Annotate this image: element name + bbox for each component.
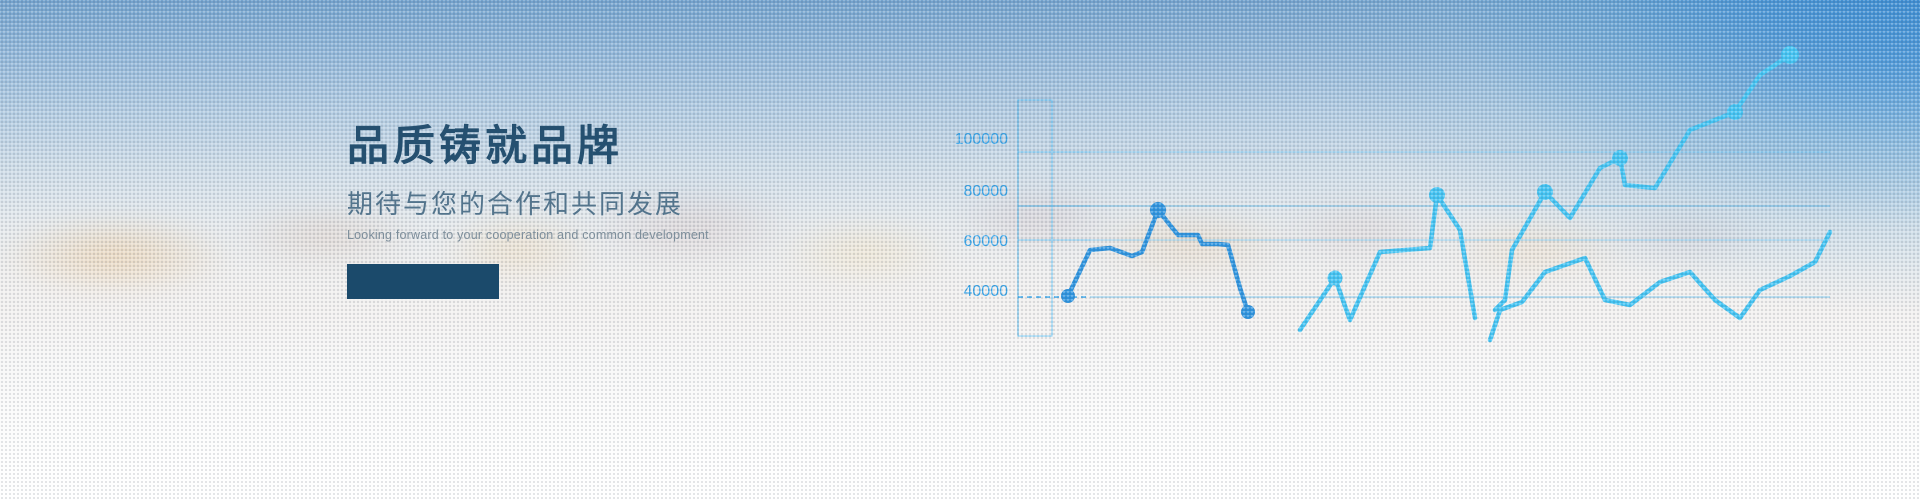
chart-gridlines <box>1090 152 1830 297</box>
chart-series-4-line <box>1490 232 1830 340</box>
chart-marker-series1-peak <box>1150 202 1166 218</box>
cta-button[interactable] <box>347 264 499 299</box>
chart-marker-series3-b <box>1612 150 1628 166</box>
chart-data-point-markers <box>1061 202 1255 319</box>
chart-svg: 100000 80000 60000 40000 <box>0 0 1920 500</box>
page-title: 品质铸就品牌 <box>347 125 867 167</box>
hero-banner: 100000 80000 60000 40000 <box>0 0 1920 500</box>
ytick-label-40000: 40000 <box>964 283 1009 300</box>
chart-axis <box>1018 100 1090 336</box>
ytick-label-80000: 80000 <box>964 183 1009 200</box>
chart-marker-series1-end <box>1241 305 1255 319</box>
chart-series-3-line <box>1495 55 1790 310</box>
chart-marker-series3-a <box>1537 184 1553 200</box>
ytick-label-60000: 60000 <box>964 233 1009 250</box>
hero-copy-block: 品质铸就品牌 期待与您的合作和共同发展 Looking forward to y… <box>347 125 867 299</box>
chart-marker-series3-c <box>1727 104 1743 120</box>
chart-marker-series2-peak <box>1429 187 1445 203</box>
chart-marker-series3-top <box>1781 46 1799 64</box>
ytick-label-100000: 100000 <box>955 131 1008 148</box>
page-subtitle: 期待与您的合作和共同发展 <box>347 191 867 217</box>
chart-series-2-line <box>1300 195 1475 330</box>
line-chart: 100000 80000 60000 40000 <box>0 0 1920 500</box>
chart-marker-series1-start <box>1061 289 1075 303</box>
page-subtitle-en: Looking forward to your cooperation and … <box>347 229 867 242</box>
chart-marker-series2-a <box>1328 271 1343 286</box>
